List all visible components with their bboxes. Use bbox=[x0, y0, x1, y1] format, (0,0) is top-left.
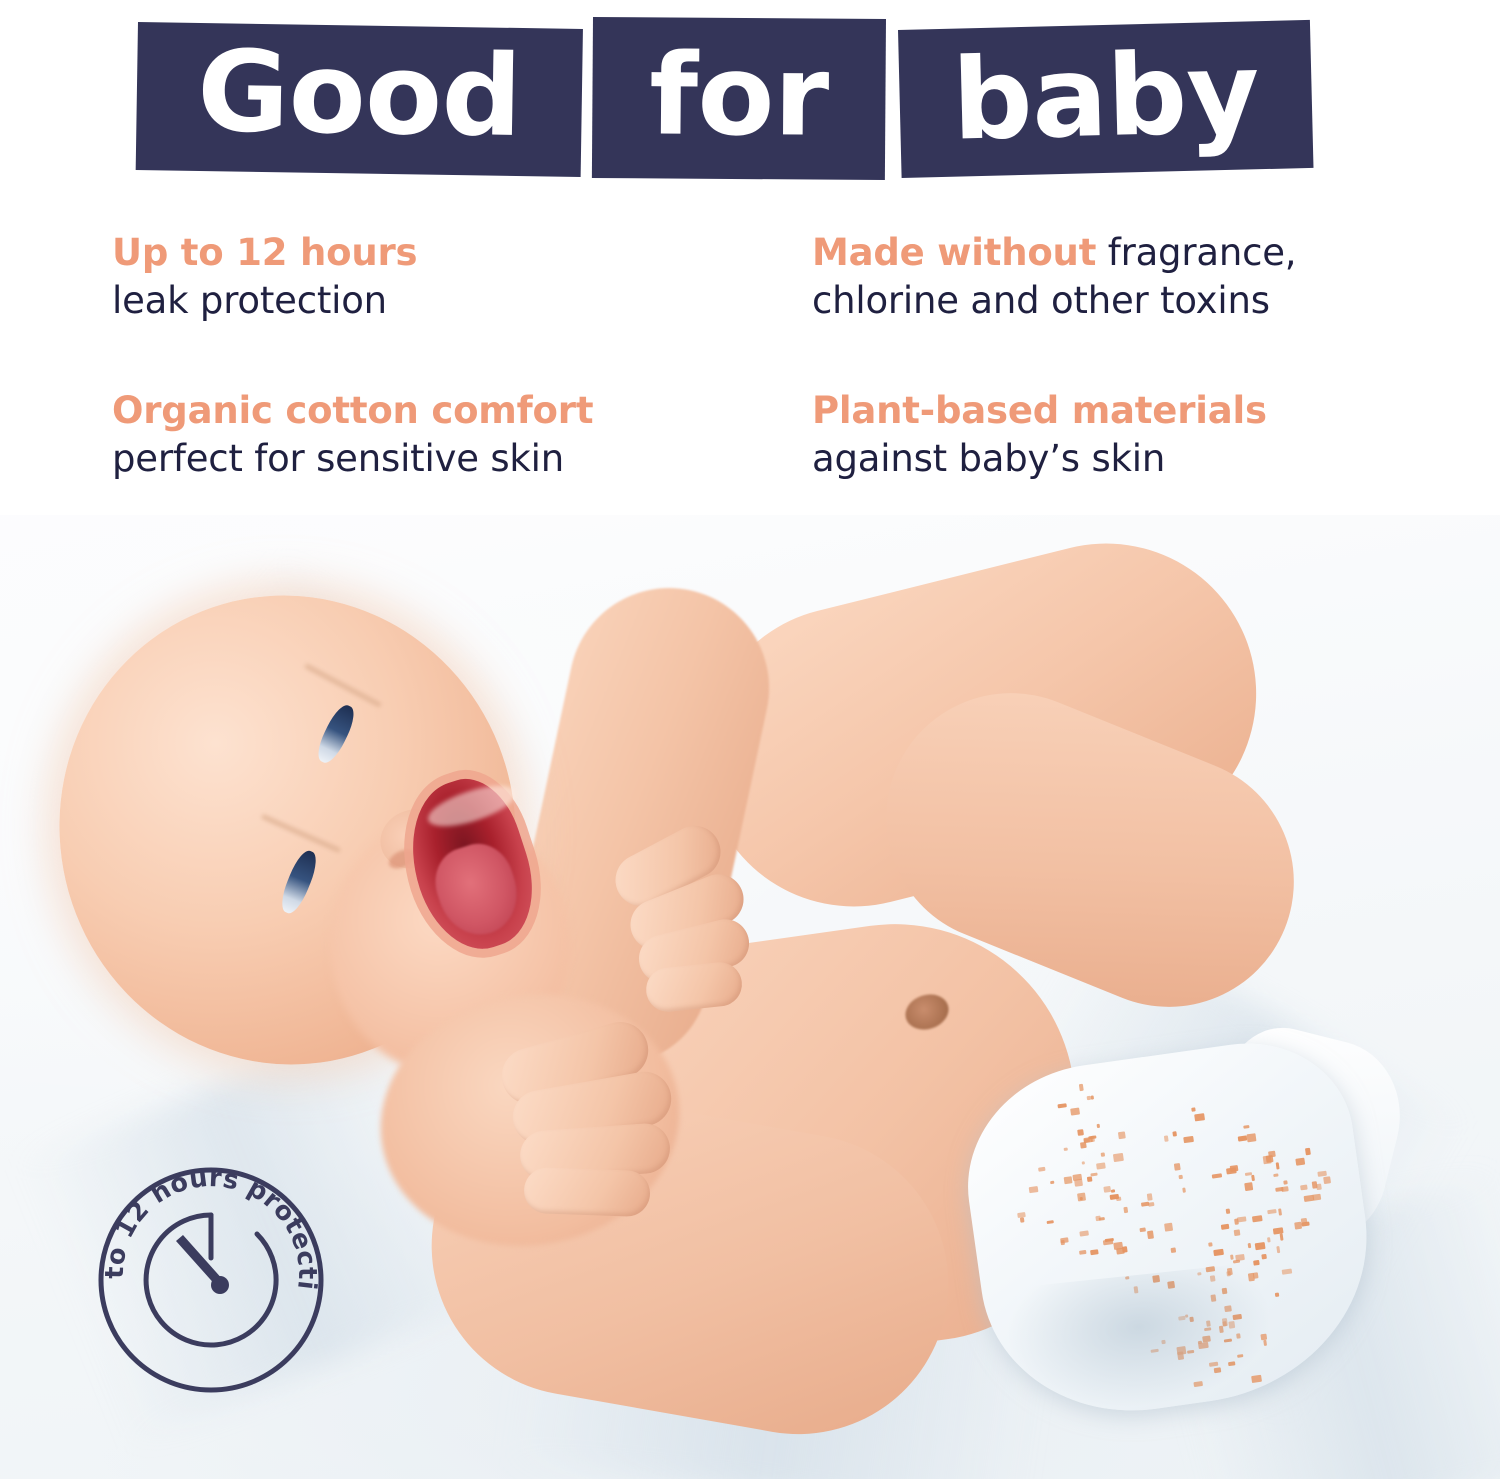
feature-subline: leak protection bbox=[112, 277, 732, 325]
diaper-print-speck bbox=[1050, 1181, 1054, 1185]
feature-headline: Made without fragrance, bbox=[812, 229, 1412, 277]
diaper-print-speck bbox=[1323, 1176, 1331, 1184]
diaper-print-speck bbox=[1147, 1231, 1155, 1240]
diaper-print-speck bbox=[1244, 1182, 1253, 1190]
feature-headline: Up to 12 hours bbox=[112, 229, 732, 277]
feature-list: Up to 12 hours leak protection Made with… bbox=[0, 215, 1500, 515]
diaper-print-speck bbox=[1278, 1209, 1282, 1216]
diaper-print-speck bbox=[1101, 1153, 1106, 1157]
diaper-print-speck bbox=[1267, 1237, 1271, 1242]
feature-headline-strong: Up to 12 hours bbox=[112, 231, 417, 274]
feature-item-leak-protection: Up to 12 hours leak protection bbox=[112, 229, 732, 325]
diaper-print-speck bbox=[1063, 1176, 1072, 1184]
diaper-print-speck bbox=[1295, 1157, 1305, 1166]
diaper-print-speck bbox=[1182, 1187, 1186, 1193]
diaper-print-speck bbox=[1283, 1180, 1288, 1184]
diaper-print-speck bbox=[1234, 1229, 1240, 1236]
product-feature-graphic: Good for baby Up to 12 hours leak protec… bbox=[0, 0, 1500, 1479]
diaper-print-speck bbox=[1111, 1189, 1115, 1193]
baby-finger bbox=[523, 1167, 651, 1217]
diaper-print-speck bbox=[1077, 1129, 1084, 1136]
diaper-print-speck bbox=[1172, 1132, 1177, 1137]
feature-headline-strong: Organic cotton comfort bbox=[112, 389, 593, 432]
diaper-print-speck bbox=[1038, 1167, 1045, 1171]
diaper-print-speck bbox=[1214, 1249, 1225, 1256]
diaper-print-speck bbox=[1046, 1220, 1054, 1224]
diaper-print-speck bbox=[1313, 1194, 1321, 1201]
diaper-print-speck bbox=[1183, 1136, 1193, 1144]
feature-headline-strong: Plant-based materials bbox=[812, 389, 1267, 432]
diaper-print-speck bbox=[1255, 1241, 1266, 1250]
diaper-print-speck bbox=[1113, 1242, 1123, 1250]
diaper-print-speck bbox=[1164, 1223, 1174, 1232]
diaper-print-speck bbox=[1080, 1142, 1086, 1149]
diaper-print-speck bbox=[1019, 1217, 1024, 1223]
diaper-print-speck bbox=[1316, 1184, 1322, 1190]
feature-headline-rest: fragrance, bbox=[1096, 231, 1296, 274]
diaper-print-speck bbox=[1268, 1151, 1276, 1157]
headline-word-good: Good bbox=[196, 36, 522, 163]
diaper-print-speck bbox=[1276, 1162, 1280, 1170]
diaper-print-speck bbox=[1074, 1179, 1083, 1187]
diaper-print-speck bbox=[1091, 1095, 1095, 1099]
diaper-print-speck bbox=[1243, 1125, 1250, 1129]
diaper-print-speck bbox=[1171, 1247, 1176, 1252]
diaper-print-speck bbox=[1300, 1185, 1307, 1191]
diaper-print-speck bbox=[1079, 1084, 1084, 1091]
headline-word-baby: baby bbox=[951, 37, 1261, 160]
diaper-print-speck bbox=[1090, 1249, 1098, 1255]
diaper-print-speck bbox=[1248, 1243, 1252, 1249]
feature-item-plant-based: Plant-based materials against baby’s ski… bbox=[812, 387, 1412, 483]
diaper-print-speck bbox=[1057, 1104, 1066, 1108]
diaper-print-speck bbox=[1079, 1230, 1090, 1237]
diaper-print-speck bbox=[1246, 1133, 1256, 1142]
diaper-print-speck bbox=[1235, 1254, 1244, 1261]
diaper-print-speck bbox=[1230, 1165, 1238, 1171]
diaper-print-speck bbox=[1113, 1153, 1124, 1162]
diaper-print-speck bbox=[1273, 1227, 1283, 1235]
feature-subline: chlorine and other toxins bbox=[812, 277, 1412, 325]
diaper-print-speck bbox=[1230, 1254, 1234, 1259]
diaper-print-speck bbox=[1194, 1114, 1205, 1121]
stopwatch-hub bbox=[211, 1276, 229, 1294]
diaper-print-speck bbox=[1280, 1233, 1284, 1241]
headline: Good for baby bbox=[0, 0, 1500, 210]
headline-word-for: for bbox=[649, 39, 829, 158]
diaper-print-speck bbox=[1103, 1186, 1110, 1193]
diaper-print-speck bbox=[1178, 1174, 1182, 1179]
diaper-print-speck bbox=[1095, 1216, 1100, 1221]
diaper-print-speck bbox=[1139, 1227, 1146, 1231]
feature-item-organic-cotton: Organic cotton comfort perfect for sensi… bbox=[112, 387, 732, 483]
diaper-print-speck bbox=[1273, 1173, 1279, 1177]
diaper-print-speck bbox=[1237, 1217, 1247, 1223]
diaper-print-speck bbox=[1096, 1124, 1100, 1128]
diaper-print-speck bbox=[1118, 1132, 1126, 1140]
diaper-print-speck bbox=[1276, 1246, 1280, 1254]
diaper-print-speck bbox=[1305, 1148, 1311, 1155]
protection-badge: up to 12 hours protection bbox=[86, 1155, 336, 1405]
diaper-print-speck bbox=[1091, 1172, 1098, 1177]
feature-headline: Organic cotton comfort bbox=[112, 387, 732, 435]
diaper-print-speck bbox=[1225, 1208, 1230, 1214]
diaper-print-speck bbox=[1252, 1215, 1263, 1222]
diaper-print-speck bbox=[1208, 1242, 1212, 1246]
feature-subline: against baby’s skin bbox=[812, 435, 1412, 483]
diaper-print-speck bbox=[1028, 1186, 1038, 1193]
feature-headline-strong: Made without bbox=[812, 231, 1096, 274]
feature-item-made-without: Made without fragrance, chlorine and oth… bbox=[812, 229, 1412, 325]
diaper-print-speck bbox=[1103, 1239, 1113, 1245]
diaper-print-speck bbox=[1082, 1161, 1086, 1165]
headline-block-baby: baby bbox=[898, 20, 1313, 178]
diaper-print-speck bbox=[1146, 1193, 1152, 1200]
diaper-print-speck bbox=[1087, 1176, 1092, 1182]
diaper-print-speck bbox=[1096, 1162, 1106, 1169]
diaper-print-speck bbox=[1123, 1206, 1128, 1212]
headline-block-good: Good bbox=[136, 22, 583, 177]
feature-subline: perfect for sensitive skin bbox=[112, 435, 732, 483]
diaper-print-speck bbox=[1191, 1107, 1196, 1112]
diaper-print-speck bbox=[1237, 1135, 1246, 1141]
diaper-print-speck bbox=[1071, 1108, 1081, 1116]
diaper-print-speck bbox=[1268, 1209, 1277, 1214]
diaper-print-speck bbox=[1212, 1173, 1222, 1178]
diaper-print-speck bbox=[1281, 1186, 1289, 1192]
diaper-print-speck bbox=[1282, 1268, 1292, 1275]
headline-block-for: for bbox=[592, 17, 886, 180]
feature-headline: Plant-based materials bbox=[812, 387, 1412, 435]
diaper-print-speck bbox=[1173, 1163, 1180, 1171]
diaper-print-speck bbox=[1221, 1224, 1230, 1230]
diaper-print-speck bbox=[1301, 1221, 1309, 1227]
diaper-print-speck bbox=[1064, 1147, 1068, 1150]
diaper-print-speck bbox=[1261, 1254, 1267, 1260]
diaper-print-speck bbox=[1079, 1250, 1087, 1254]
diaper-print-speck bbox=[1017, 1212, 1025, 1218]
diaper-print-speck bbox=[1060, 1237, 1069, 1243]
diaper-shadow bbox=[1004, 1262, 1276, 1418]
diaper-print-speck bbox=[1275, 1292, 1279, 1297]
diaper-print-speck bbox=[1164, 1135, 1169, 1141]
diaper-print-speck bbox=[1251, 1175, 1256, 1182]
